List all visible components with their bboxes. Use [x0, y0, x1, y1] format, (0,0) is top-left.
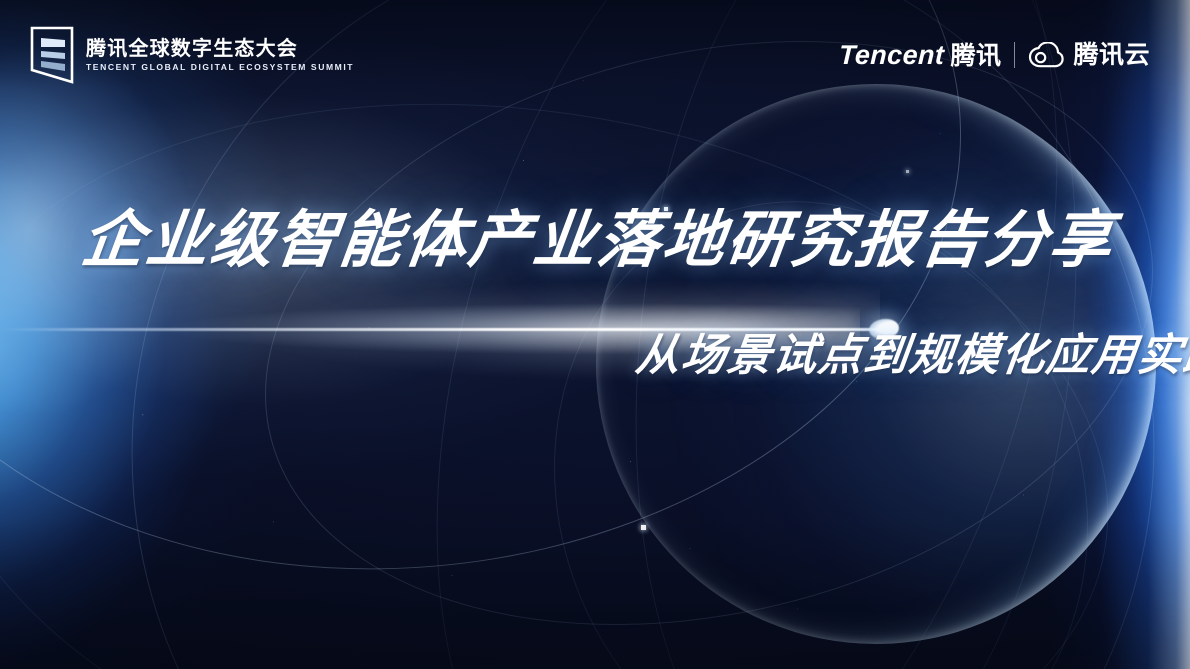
- title-slide: 腾讯全球数字生态大会 TENCENT GLOBAL DIGITAL ECOSYS…: [0, 0, 1190, 669]
- star-dot-icon: [906, 170, 909, 173]
- tencent-latin-wordmark: Tencent: [839, 42, 945, 69]
- tencent-logo[interactable]: Tencent 腾讯: [839, 42, 1001, 69]
- page-title: 企业级智能体产业落地研究报告分享: [78, 210, 1118, 272]
- tencent-cloud-cn-wordmark: 腾讯云: [1073, 43, 1150, 68]
- star-dot-icon: [641, 525, 646, 530]
- tencent-brand-lockup[interactable]: Tencent 腾讯 腾讯云: [839, 42, 1150, 69]
- tencent-cn-wordmark: 腾讯: [950, 44, 1001, 69]
- slide-header: 腾讯全球数字生态大会 TENCENT GLOBAL DIGITAL ECOSYS…: [0, 0, 1190, 110]
- summit-logo[interactable]: 腾讯全球数字生态大会 TENCENT GLOBAL DIGITAL ECOSYS…: [30, 26, 349, 84]
- tencent-cloud-icon: [1028, 42, 1064, 68]
- brand-divider: [1014, 42, 1015, 68]
- tencent-cloud-logo[interactable]: 腾讯云: [1028, 42, 1150, 68]
- summit-name-en: TENCENT GLOBAL DIGITAL ECOSYSTEM SUMMIT: [86, 63, 354, 71]
- summit-name-cn: 腾讯全球数字生态大会: [86, 39, 349, 60]
- page-subtitle: 从场景试点到规模化应用实践: [633, 334, 1190, 378]
- summit-flag-mark-icon: [30, 26, 74, 84]
